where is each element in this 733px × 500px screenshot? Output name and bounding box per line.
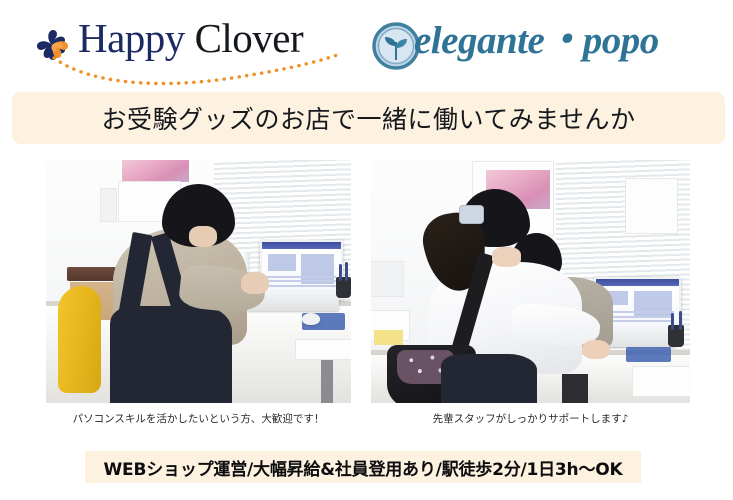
headline-banner: お受験グッズのお店で一緒に働いてみませんか [12,92,725,144]
photo-male-staff-at-laptop [46,160,351,403]
photo-female-staff-being-supported [371,160,690,403]
header-logos: Happy Clover elegante・popo [0,0,733,88]
female-staff-hand [582,340,611,359]
footer-text: WEBショップ運営/大幅昇給&社員登用あり/駅徒歩2分/1日3h～OK [104,455,623,480]
wall-photo-left [371,262,403,296]
desk-paper [633,367,690,396]
female-staff-apron [441,354,537,403]
footer-banner: WEBショップ運営/大幅昇給&社員登用あり/駅徒歩2分/1日3h～OK [85,451,641,483]
logo-elegante-popo[interactable]: elegante・popo [372,12,702,78]
photo-caption-left: パソコンスキルを活かしたいという方、大歓迎です！ [46,411,351,426]
male-staff-overalls [110,306,232,403]
male-staff-neck [189,226,216,248]
photo-gallery: パソコンスキルを活かしたいという方、大歓迎です！ [0,160,733,435]
wall-note [101,189,116,221]
headline-text: お受験グッズのお店で一緒に働いてみませんか [101,100,635,136]
photo-caption-right: 先輩スタッフがしっかりサポートします♪ [371,411,690,426]
male-staff-hand [241,272,268,294]
logo-happy-clover-text: Happy Clover [78,14,303,62]
desk-device [562,374,588,403]
wall-notice [626,179,677,232]
screen-panel [268,254,297,271]
wall-poster-sakura [122,160,189,182]
desk-tray [67,267,116,282]
logo-word-clover: Clover [195,15,304,61]
hair-clip [460,206,482,223]
desk-paper [296,340,351,359]
female-staff-neck [492,247,521,266]
mouse-pad [626,347,671,362]
logo-word-happy: Happy [78,15,185,61]
photo-card-right: 先輩スタッフがしっかりサポートします♪ [371,160,690,426]
sticky-note [374,330,403,345]
logo-elegante-popo-text: elegante・popo [414,18,659,64]
logo-happy-clover[interactable]: Happy Clover [30,12,360,80]
leaf-sprout-badge-icon [372,22,420,70]
photo-card-left: パソコンスキルを活かしたいという方、大歓迎です！ [46,160,351,426]
pen-cup [336,277,351,299]
yellow-chair [58,286,101,393]
screen-panel-2 [301,254,334,283]
four-leaf-clover-icon [30,24,76,70]
